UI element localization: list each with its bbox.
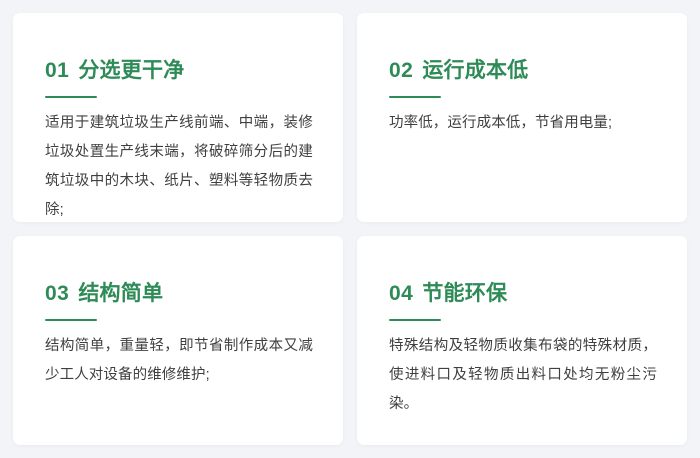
feature-title-02: 运行成本低: [422, 59, 528, 82]
feature-title-03: 结构简单: [78, 282, 163, 305]
feature-body-01: 适用于建筑垃圾生产线前端、中端，装修垃圾处置生产线末端，将破碎筛分后的建筑垃圾中…: [45, 109, 313, 222]
feature-cards-grid: 01分选更干净 适用于建筑垃圾生产线前端、中端，装修垃圾处置生产线末端，将破碎筛…: [0, 0, 700, 458]
feature-body-04: 特殊结构及轻物质收集布袋的特殊材质，使进料口及轻物质出料口处均无粉尘污染。: [389, 332, 657, 419]
feature-body-03: 结构简单，重量轻，即节省制作成本又减少工人对设备的维修维护;: [45, 332, 313, 390]
heading-underline-02: [389, 96, 441, 98]
feature-heading-03: 03结构简单: [45, 282, 313, 305]
feature-heading-01: 01分选更干净: [45, 59, 313, 82]
feature-card-02: 02运行成本低 功率低，运行成本低，节省用电量;: [357, 13, 687, 222]
feature-card-03: 03结构简单 结构简单，重量轻，即节省制作成本又减少工人对设备的维修维护;: [13, 236, 343, 445]
feature-title-01: 分选更干净: [78, 59, 184, 82]
heading-underline-03: [45, 319, 97, 321]
feature-heading-04: 04节能环保: [389, 282, 657, 305]
feature-title-04: 节能环保: [422, 282, 507, 305]
heading-underline-04: [389, 319, 441, 321]
feature-index-01: 01: [45, 59, 69, 82]
feature-body-02: 功率低，运行成本低，节省用电量;: [389, 109, 657, 138]
feature-heading-02: 02运行成本低: [389, 59, 657, 82]
feature-card-01: 01分选更干净 适用于建筑垃圾生产线前端、中端，装修垃圾处置生产线末端，将破碎筛…: [13, 13, 343, 222]
feature-index-03: 03: [45, 282, 69, 305]
feature-index-02: 02: [389, 59, 413, 82]
feature-index-04: 04: [389, 282, 413, 305]
feature-card-04: 04节能环保 特殊结构及轻物质收集布袋的特殊材质，使进料口及轻物质出料口处均无粉…: [357, 236, 687, 445]
heading-underline-01: [45, 96, 97, 98]
